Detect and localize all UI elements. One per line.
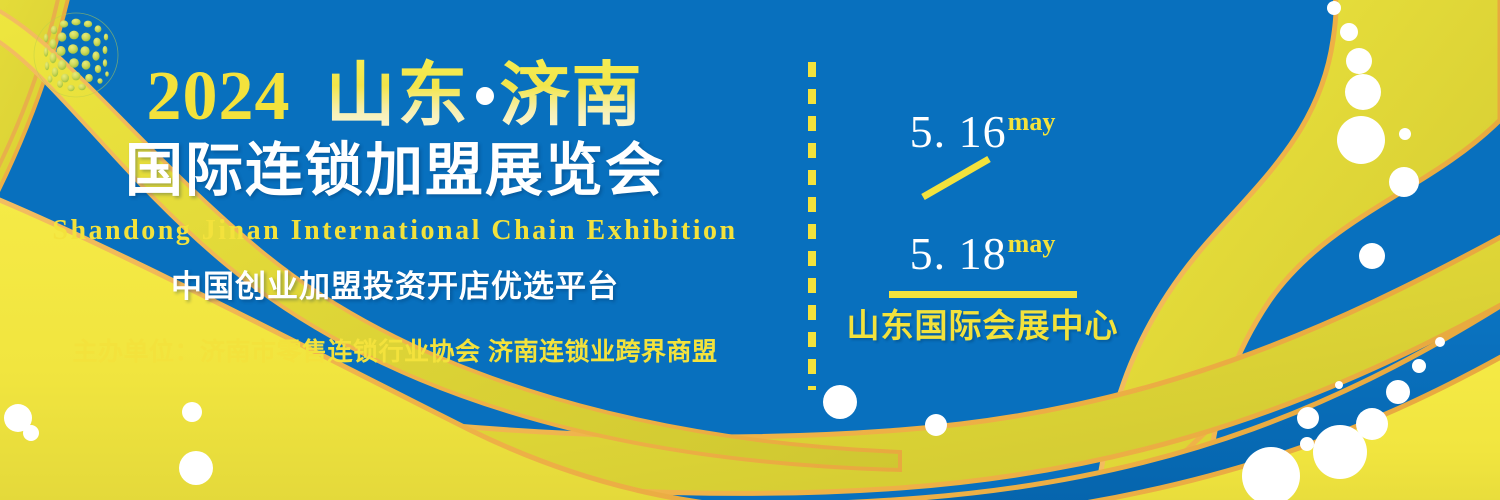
title-city-province: 山东 [326,56,470,134]
bubble [1412,359,1426,373]
title-year: 2024 [147,58,291,135]
bubble [1327,1,1341,15]
venue-underline-rule [889,291,1077,298]
title-english: Shandong Jinan International Chain Exhib… [0,214,790,248]
bubble [1297,407,1319,429]
bubble [23,425,39,441]
organizer-line: 主办单位：济南市零售连锁行业协会 济南连锁业跨界商盟 [0,336,790,368]
date-range-slash-icon [917,153,995,203]
vertical-dashed-divider [808,62,816,390]
bubble [1340,23,1358,41]
bubble [179,451,213,485]
bubble [1345,74,1381,110]
bubble [1313,425,1367,479]
exhibition-banner: 2024 山东济南 国际连锁加盟展览会 Shandong Jinan Inter… [0,0,1500,500]
title-separator-dot [476,87,494,105]
venue-name: 山东国际会展中心 [845,305,1120,347]
tagline: 中国创业加盟投资开店优选平台 [0,268,790,306]
date-venue-block: 5. 16may 5. 18may 山东国际会展中心 [845,95,1120,347]
date-start-month: may [1008,107,1056,136]
bubble [182,402,202,422]
bubble [1300,437,1314,451]
title-line-2: 国际连锁加盟展览会 [0,138,790,204]
bubble [1386,380,1410,404]
bubble [1399,128,1411,140]
bubble [1337,116,1385,164]
date-end-day: 5. 18 [910,228,1007,279]
date-start-day: 5. 16 [910,106,1007,157]
bubble [1435,337,1445,347]
bubble [1389,167,1419,197]
bubble [823,385,857,419]
date-end: 5. 18may [845,217,1120,281]
headline-block: 2024 山东济南 国际连锁加盟展览会 Shandong Jinan Inter… [0,56,790,368]
title-city-name: 济南 [500,56,644,134]
bubble [1346,48,1372,74]
bubble [925,414,947,436]
bubble [1335,381,1343,389]
bubble [1359,243,1385,269]
date-start: 5. 16may [845,95,1120,159]
date-end-month: may [1008,229,1056,258]
title-line-1: 2024 山东济南 [0,56,790,136]
